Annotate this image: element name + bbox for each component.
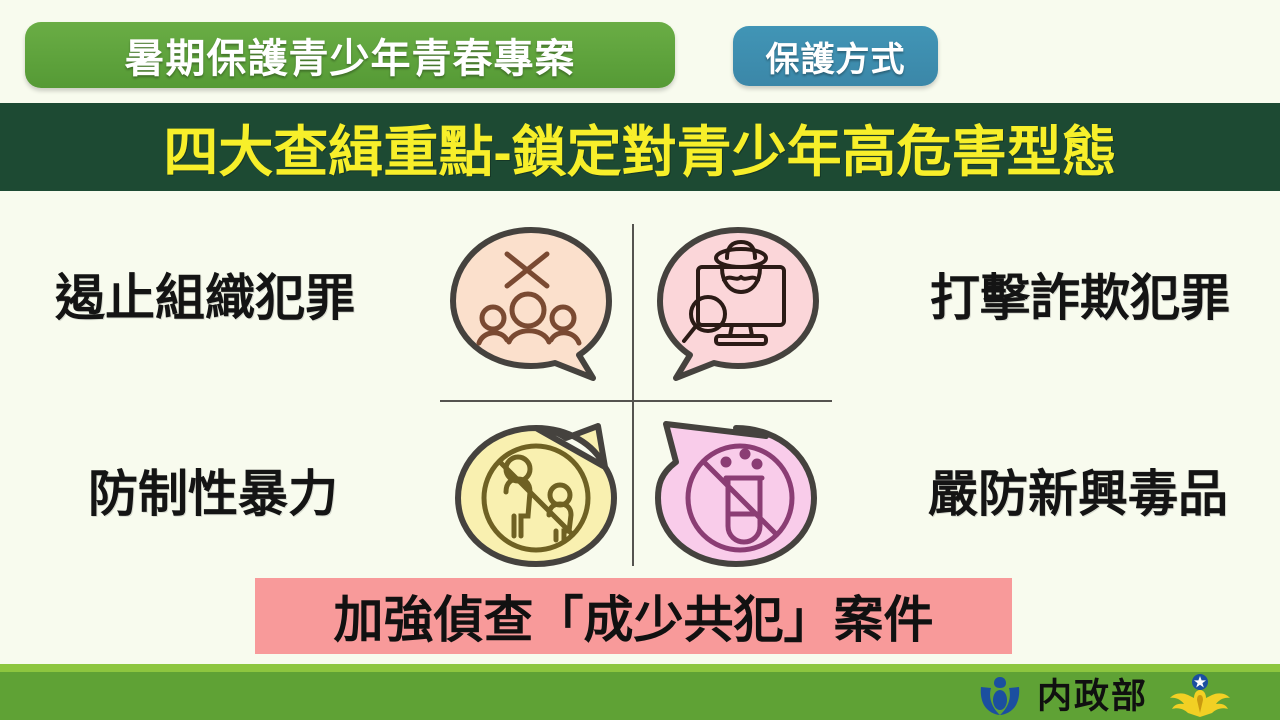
footer-logo-group: 内政部 (977, 672, 1232, 720)
moi-emblem-icon (977, 675, 1023, 717)
header: 暑期保護青少年青春專案 保護方式 (0, 0, 1280, 100)
section-badge-label: 保護方式 (766, 32, 906, 81)
title-band: 四大查緝重點-鎖定對青少年高危害型態 (0, 103, 1280, 191)
moi-agency-name: 内政部 (1037, 679, 1148, 714)
no-drugs-capsule-icon (648, 412, 824, 572)
quadrant-label-top-right: 打擊詐欺犯罪 (930, 258, 1230, 330)
quadrant-label-bottom-right: 嚴防新興毒品 (928, 454, 1228, 526)
quadrant-label-top-left: 遏止組織犯罪 (55, 258, 355, 330)
quadrant-grid: 遏止組織犯罪 打擊詐欺犯罪 防制性暴力 嚴防新興毒品 (0, 196, 1280, 578)
fraud-spy-monitor-icon (650, 224, 826, 384)
section-badge: 保護方式 (733, 26, 938, 86)
group-crime-x-icon (443, 224, 619, 384)
npa-eagle-emblem-icon (1168, 673, 1232, 719)
no-sexual-violence-icon (448, 412, 624, 572)
program-badge-label: 暑期保護青少年青春專案 (125, 26, 576, 84)
page-title: 四大查緝重點-鎖定對青少年高危害型態 (163, 107, 1116, 187)
program-badge: 暑期保護青少年青春專案 (25, 22, 675, 88)
slide-root: 暑期保護青少年青春專案 保護方式 四大查緝重點-鎖定對青少年高危害型態 遏止組織… (0, 0, 1280, 720)
highlight-banner: 加強偵查「成少共犯」案件 (255, 578, 1012, 654)
footer-stripe (0, 664, 1280, 672)
divider-vertical (632, 224, 634, 566)
divider-horizontal (440, 400, 832, 402)
footer: 内政部 (0, 664, 1280, 720)
highlight-banner-text: 加強偵查「成少共犯」案件 (334, 580, 934, 652)
quadrant-label-bottom-left: 防制性暴力 (88, 454, 338, 526)
